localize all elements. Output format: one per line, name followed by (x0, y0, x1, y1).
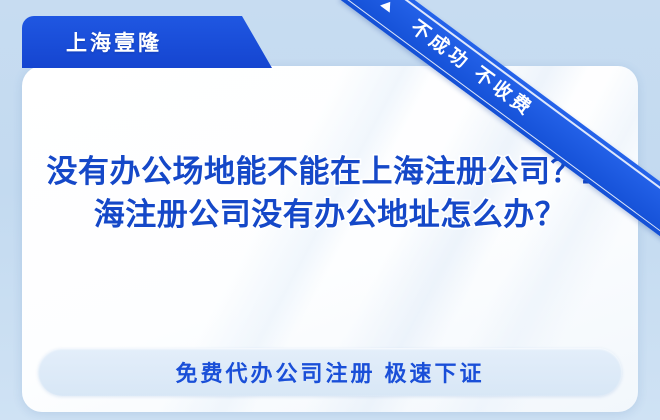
page-title: 没有办公场地能不能在上海注册公司？上海注册公司没有办公地址怎么办？ (44, 150, 616, 236)
brand-tab[interactable] (22, 16, 272, 68)
triangle-up-icon (380, 0, 395, 13)
cta-banner[interactable]: 免费代办公司注册 极速下证 (38, 348, 622, 396)
poster-canvas: 上海壹隆 没有办公场地能不能在上海注册公司？上海注册公司没有办公地址怎么办？ 免… (0, 0, 660, 420)
cta-label: 免费代办公司注册 极速下证 (175, 356, 484, 388)
